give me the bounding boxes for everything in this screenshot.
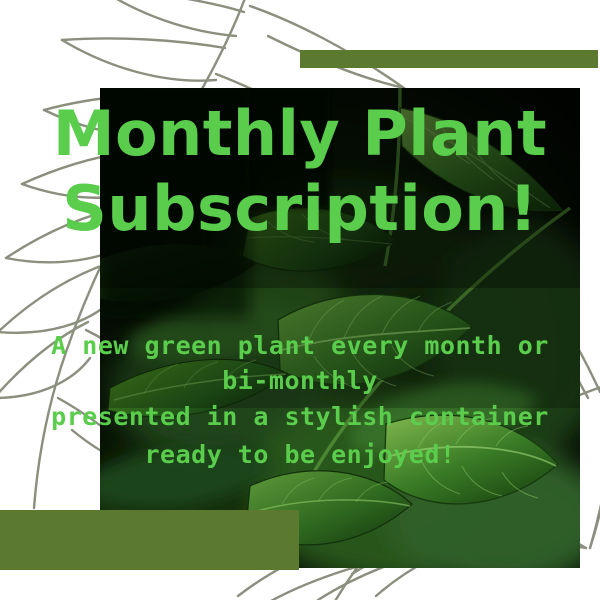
body-copy-line-4: ready to be enjoyed!: [0, 442, 600, 467]
poster-canvas: Monthly Plant Subscription! A new green …: [0, 0, 600, 600]
headline-line-1: Monthly Plant: [0, 103, 600, 165]
text-layer: Monthly Plant Subscription! A new green …: [0, 0, 600, 600]
body-copy-line-1: A new green plant every month or: [0, 333, 600, 358]
body-copy-line-3: presented in a stylish container: [0, 404, 600, 429]
body-copy-line-2: bi-monthly: [0, 368, 600, 393]
headline-line-2: Subscription!: [0, 178, 600, 240]
